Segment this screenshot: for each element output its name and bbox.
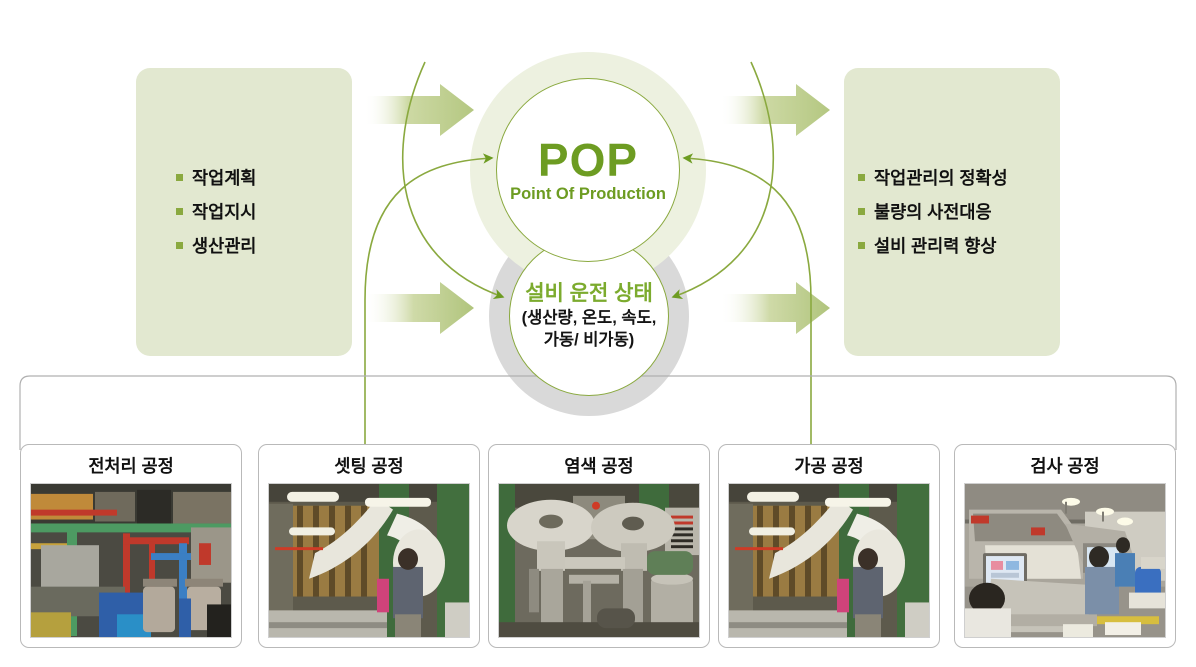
equipment-detail-line-1: (생산량, 온도, 속도, <box>522 307 657 329</box>
bullet-square-icon <box>858 208 865 215</box>
pop-circle: POP Point Of Production <box>496 78 680 262</box>
pop-title: POP <box>538 137 638 183</box>
right-item-label-3: 설비 관리력 향상 <box>874 236 996 256</box>
right-panel-list: 작업관리의 정확성 불량의 사전대응 설비 관리력 향상 <box>844 161 1060 263</box>
arrow-pop-to-right <box>720 84 830 136</box>
process-card-inspection[interactable]: 검사 공정 <box>954 444 1176 648</box>
left-panel-list: 작업계획 작업지시 생산관리 <box>136 161 352 263</box>
inspection-process-photo <box>964 483 1166 638</box>
process-card-setting[interactable]: 셋팅 공정 <box>258 444 480 648</box>
right-outcome-panel: 작업관리의 정확성 불량의 사전대응 설비 관리력 향상 <box>844 68 1060 356</box>
finishing-process-photo <box>728 483 930 638</box>
list-item: 설비 관리력 향상 <box>874 229 1060 263</box>
bullet-square-icon <box>176 174 183 181</box>
process-card-title: 셋팅 공정 <box>259 453 479 478</box>
bullet-square-icon <box>858 174 865 181</box>
process-card-title: 검사 공정 <box>955 453 1175 478</box>
process-card-title: 가공 공정 <box>719 453 939 478</box>
left-input-panel: 작업계획 작업지시 생산관리 <box>136 68 352 356</box>
left-item-label-1: 작업계획 <box>192 168 256 188</box>
process-card-title: 전처리 공정 <box>21 453 241 478</box>
bullet-square-icon <box>858 242 865 249</box>
list-item: 작업관리의 정확성 <box>874 161 1060 195</box>
arrow-left-to-equipment <box>364 282 474 334</box>
left-item-label-3: 생산관리 <box>192 236 256 256</box>
list-item: 불량의 사전대응 <box>874 195 1060 229</box>
list-item: 작업계획 <box>192 161 352 195</box>
equipment-title: 설비 운전 상태 <box>525 282 653 306</box>
setting-process-photo <box>268 483 470 638</box>
diagram-canvas: 작업계획 작업지시 생산관리 작업관리의 정확성 불량의 사전대응 설비 관리력… <box>0 0 1196 667</box>
bullet-square-icon <box>176 242 183 249</box>
list-item: 작업지시 <box>192 195 352 229</box>
process-card-pretreatment[interactable]: 전처리 공정 <box>20 444 242 648</box>
arrow-equipment-to-right <box>720 282 830 334</box>
equipment-detail-line-2: 가동/ 비가동) <box>544 329 635 351</box>
process-card-dyeing[interactable]: 염색 공정 <box>488 444 710 648</box>
arrow-left-to-pop <box>364 84 474 136</box>
dyeing-process-photo <box>498 483 700 638</box>
right-item-label-2: 불량의 사전대응 <box>874 202 992 222</box>
list-item: 생산관리 <box>192 229 352 263</box>
process-card-finishing[interactable]: 가공 공정 <box>718 444 940 648</box>
left-item-label-2: 작업지시 <box>192 202 256 222</box>
bullet-square-icon <box>176 208 183 215</box>
pretreatment-process-photo <box>30 483 232 638</box>
pop-subtitle: Point Of Production <box>510 185 666 203</box>
right-item-label-1: 작업관리의 정확성 <box>874 168 1008 188</box>
process-card-title: 염색 공정 <box>489 453 709 478</box>
